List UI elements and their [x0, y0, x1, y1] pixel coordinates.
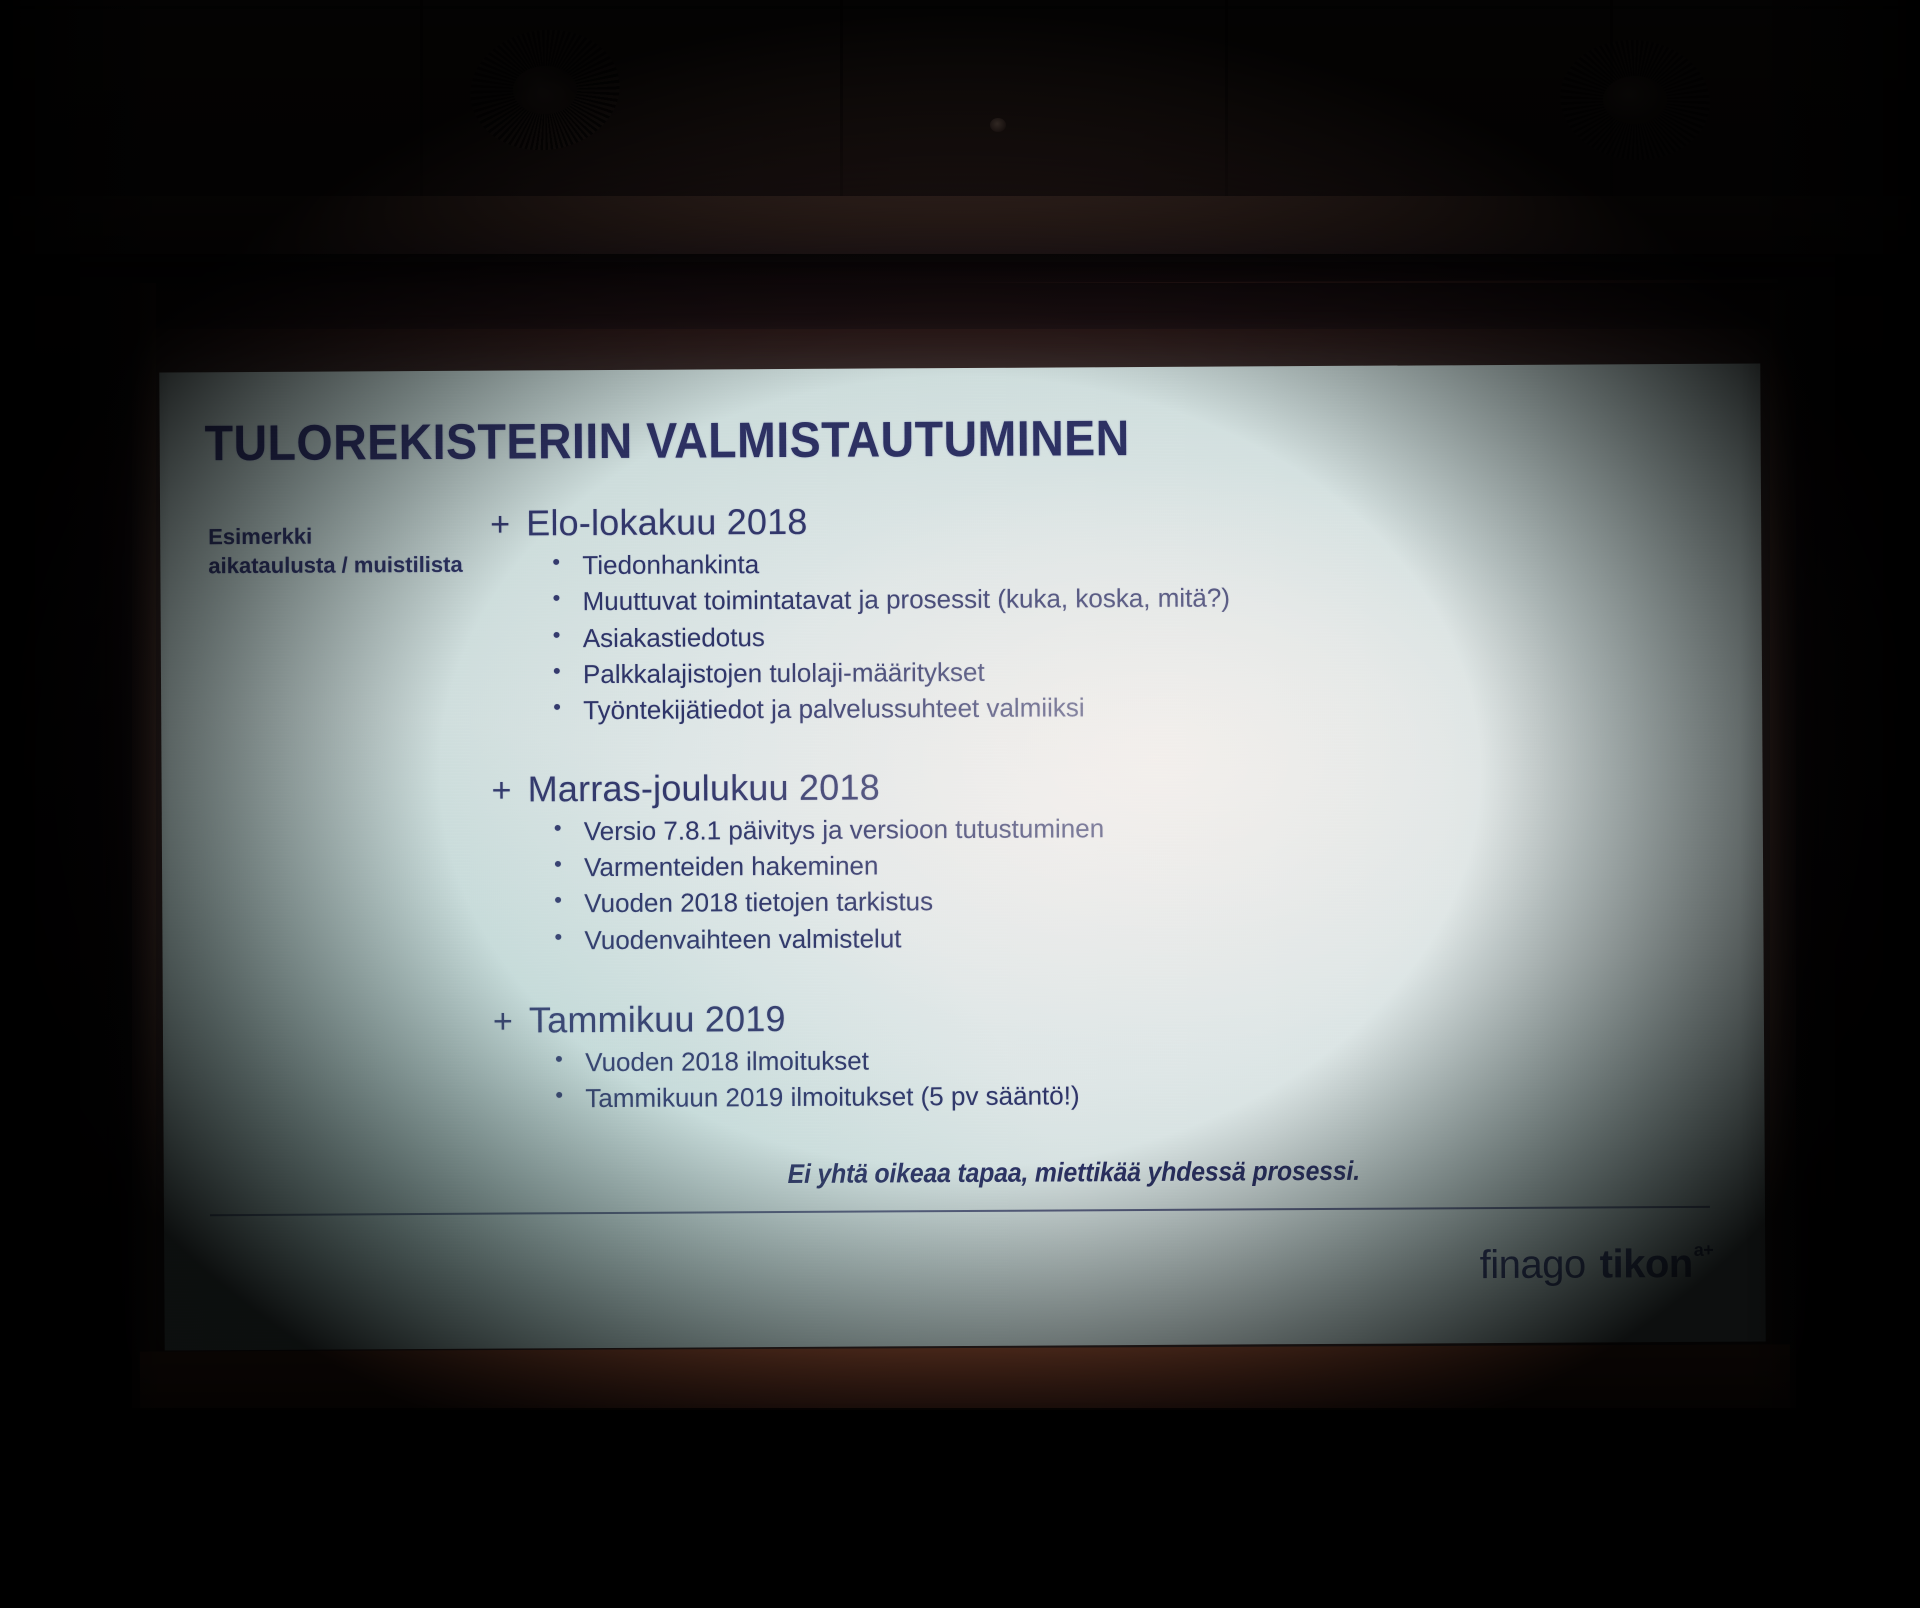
sidebar-note-line-2: aikataulusta / muistilista — [208, 550, 478, 581]
ceiling-beam — [0, 196, 1920, 262]
list-item: Varmenteiden hakeminen — [550, 844, 1652, 884]
list-item: Versio 7.8.1 päivitys ja versioon tutust… — [550, 808, 1652, 848]
list-item: Vuoden 2018 ilmoitukset — [551, 1039, 1653, 1079]
slide-footnote: Ei yhtä oikeaa tapaa, miettikää yhdessä … — [540, 1154, 1607, 1191]
timeline-group-heading: + Marras-joulukuu 2018 — [491, 762, 1651, 810]
footer-divider — [210, 1206, 1710, 1216]
projection-screen-top-band — [140, 283, 1780, 329]
ceiling-tile-seam — [0, 6, 1920, 9]
room-photograph: TULOREKISTERIIN VALMISTAUTUMINEN Esimerk… — [0, 0, 1920, 1608]
ceiling-vent-hub — [513, 66, 577, 114]
list-item: Vuoden 2018 tietojen tarkistus — [550, 880, 1652, 920]
screen-bottom-shadow — [130, 1408, 1800, 1468]
list-item: Palkkalajistojen tulolaji-määritykset — [549, 651, 1651, 691]
ceiling-vent-hub — [1603, 76, 1667, 124]
timeline-group-heading-label: Elo-lokakuu 2018 — [526, 501, 808, 545]
list-item: Asiakastiedotus — [549, 615, 1651, 655]
brand-logo-tikon: tikon — [1600, 1242, 1693, 1288]
projected-slide: TULOREKISTERIIN VALMISTAUTUMINEN Esimerk… — [159, 364, 1765, 1351]
ceiling-fixture-dot — [990, 118, 1006, 132]
brand-logo-finago: finago — [1480, 1243, 1586, 1289]
timeline-group-heading: + Elo-lokakuu 2018 — [490, 496, 1650, 544]
plus-icon: + — [493, 1002, 513, 1041]
timeline-group-heading-label: Marras-joulukuu 2018 — [528, 766, 880, 810]
timeline-group: + Elo-lokakuu 2018 Tiedonhankinta Muuttu… — [490, 496, 1651, 728]
list-item: Tiedonhankinta — [548, 542, 1650, 582]
timeline-group-heading: + Tammikuu 2019 — [493, 993, 1653, 1041]
brand-logo: finago tikon a+ — [1480, 1242, 1714, 1288]
list-item: Muuttuvat toimintatavat ja prosessit (ku… — [548, 578, 1650, 618]
list-item: Tammikuun 2019 ilmoitukset (5 pv sääntö!… — [551, 1075, 1653, 1115]
projection-screen-left-rail — [132, 283, 156, 1423]
slide-sidebar-note: Esimerkki aikataulusta / muistilista — [208, 521, 478, 581]
slide-title: TULOREKISTERIIN VALMISTAUTUMINEN — [205, 409, 1130, 472]
timeline-group: + Tammikuu 2019 Vuoden 2018 ilmoitukset … — [493, 993, 1654, 1116]
sidebar-note-line-1: Esimerkki — [208, 521, 478, 552]
projection-screen-right-rail — [1770, 290, 1796, 1425]
list-item: Vuodenvaihteen valmistelut — [550, 917, 1652, 957]
timeline-group-heading-label: Tammikuu 2019 — [529, 998, 786, 1041]
bullet-list: Vuoden 2018 ilmoitukset Tammikuun 2019 i… — [493, 1039, 1653, 1116]
plus-icon: + — [492, 771, 512, 810]
brand-logo-superscript: a+ — [1694, 1240, 1714, 1261]
timeline-group: + Marras-joulukuu 2018 Versio 7.8.1 päiv… — [491, 762, 1652, 958]
list-item: Työntekijätiedot ja palvelussuhteet valm… — [549, 687, 1651, 727]
bullet-list: Tiedonhankinta Muuttuvat toimintatavat j… — [490, 542, 1651, 728]
bullet-list: Versio 7.8.1 päivitys ja versioon tutust… — [492, 808, 1653, 958]
slide-content: + Elo-lokakuu 2018 Tiedonhankinta Muuttu… — [490, 496, 1653, 1122]
plus-icon: + — [490, 506, 510, 545]
